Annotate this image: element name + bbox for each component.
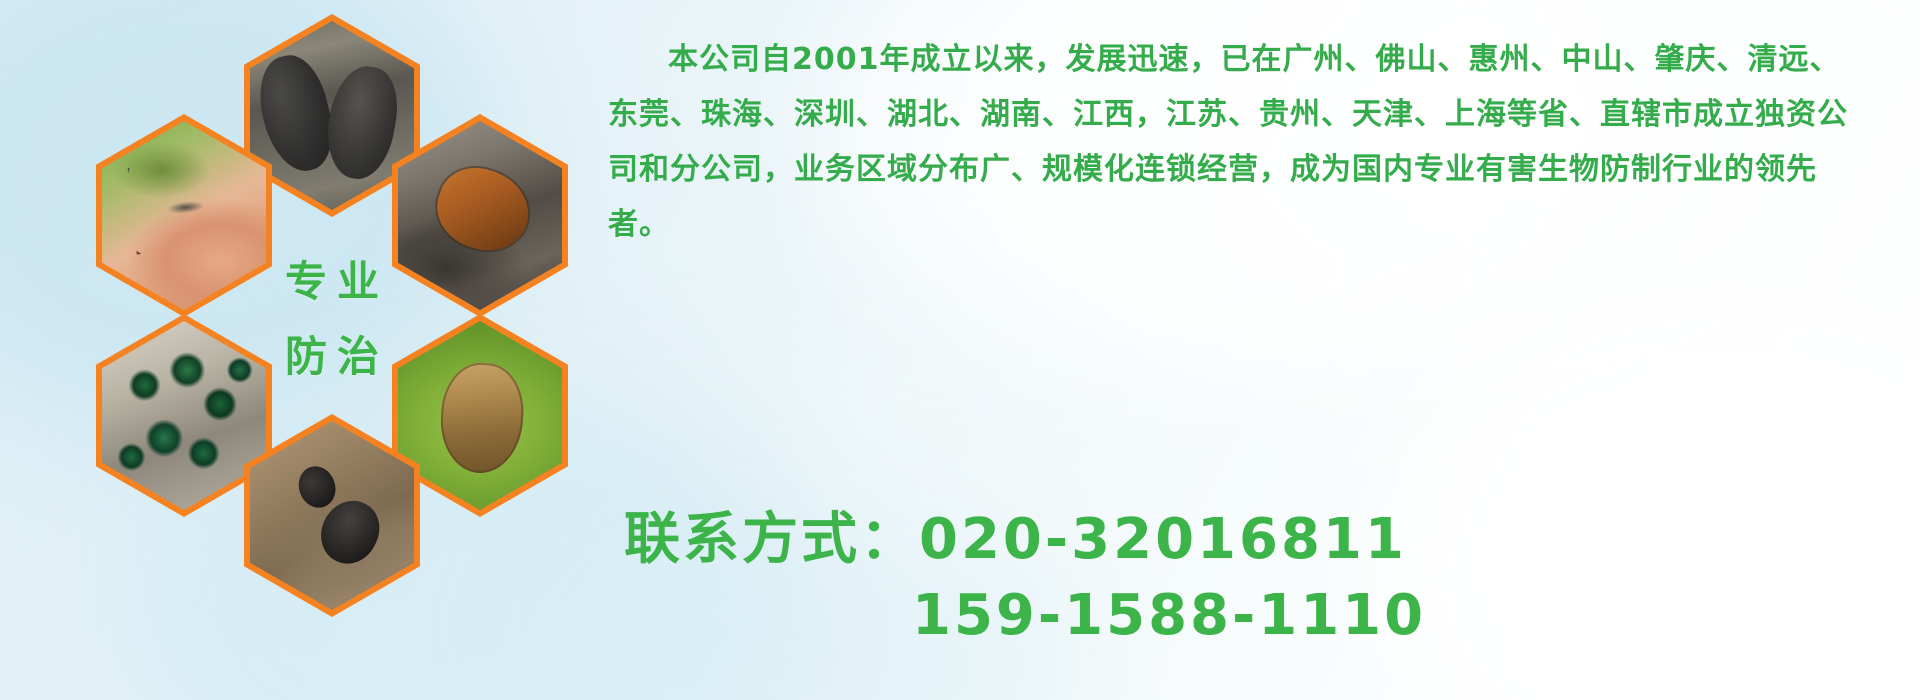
center-label-line-1: 专业 [275,248,389,309]
banner-content: 本公司自2001年成立以来，发展迅速，已在广州、佛山、惠州、中山、肇庆、清远、东… [608,32,1880,252]
hex-image-frame [250,421,414,610]
center-label-line-2: 防治 [275,323,389,384]
hex-image-frame [398,321,562,510]
promo-banner: 专业 防治 本公司自2001年成立以来，发展迅速，已在广州、佛山、惠州、中山、肇… [0,0,1920,700]
company-intro-paragraph: 本公司自2001年成立以来，发展迅速，已在广州、佛山、惠州、中山、肇庆、清远、东… [608,32,1868,252]
hex-label-frame: 专业 防治 [250,221,414,410]
rats-photo [250,21,414,210]
hex-image-frame [398,121,562,310]
hex-image-frame [102,121,266,310]
honeycomb-center-label: 专业 防治 [250,221,414,410]
hex-image-frame [102,321,266,510]
honeycomb-collage: 专业 防治 [96,14,596,574]
hex-image-frame [250,21,414,210]
mosquito-photo [102,121,266,310]
flies-photo [102,321,266,510]
ant-photo [250,421,414,610]
contact-primary-line: 联系方式：020-32016811 [624,502,1880,578]
contact-block: 联系方式：020-32016811 159-1588-1110 [624,502,1880,654]
stink-bug-photo [398,321,562,510]
cockroach-photo [398,121,562,310]
contact-secondary-line: 159-1588-1110 [624,578,1880,654]
